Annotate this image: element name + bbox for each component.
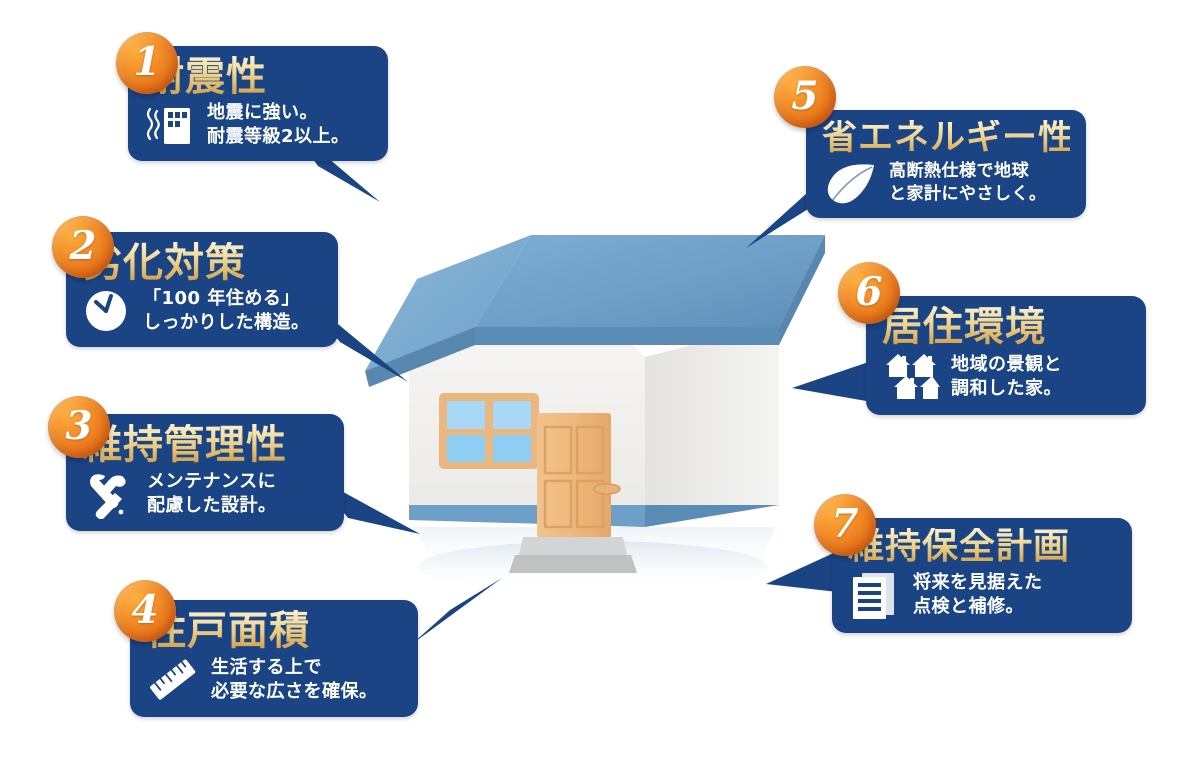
callout-desc-2: 「100 年住める」 しっかりした構造。 xyxy=(143,287,310,335)
callout-desc-2-line2: しっかりした構造。 xyxy=(143,311,310,335)
callout-badge-7: 7 xyxy=(814,494,876,556)
ruler-icon xyxy=(146,655,200,705)
callout-5[interactable]: 省エネルギー性 高断熱仕様で地球 と家計にやさしく。 5 xyxy=(806,110,1086,218)
callout-4[interactable]: 住戸面積 xyxy=(130,600,418,717)
callout-desc-6-line1: 地域の景観と xyxy=(951,353,1062,377)
callout-title-4: 住戸面積 xyxy=(146,610,402,653)
callout-number-4: 4 xyxy=(131,591,158,630)
callout-number-7: 7 xyxy=(831,505,858,544)
callout-number-3: 3 xyxy=(65,407,92,446)
callout-6[interactable]: 居住環境 地域の景観と 調和した家。 xyxy=(866,296,1146,415)
house-door-handle xyxy=(594,484,620,494)
callout-title-1: 耐震性 xyxy=(144,56,372,99)
callout-desc-6: 地域の景観と 調和した家。 xyxy=(951,353,1062,401)
callout-title-2: 劣化対策 xyxy=(82,242,322,285)
house-window-pane xyxy=(447,435,485,462)
callout-badge-4: 4 xyxy=(114,580,176,642)
wrench-hammer-icon xyxy=(82,469,136,519)
clock-icon xyxy=(82,287,132,335)
callout-badge-1: 1 xyxy=(116,32,178,94)
callout-desc-7-line2: 点検と補修。 xyxy=(913,595,1043,619)
house-roof-right xyxy=(475,235,825,327)
callout-badge-2: 2 xyxy=(52,216,114,278)
callout-3[interactable]: 維持管理性 メンテナンスに 配慮した設計。 3 xyxy=(66,414,344,531)
callout-desc-4-line1: 生活する上で xyxy=(211,656,378,680)
callout-bubble-7[interactable]: 維持保全計画 将来を見据えた 点検と補修。 xyxy=(832,518,1132,633)
callout-desc-4: 生活する上で 必要な広さを確保。 xyxy=(211,656,378,704)
callout-title-5: 省エネルギー性 xyxy=(822,120,1070,158)
callout-number-5: 5 xyxy=(791,77,818,116)
house-door xyxy=(537,413,611,538)
infographic-canvas: 耐震性 地震に強い。 xyxy=(0,0,1200,775)
callout-desc-7-line1: 将来を見据えた xyxy=(913,571,1043,595)
callout-badge-3: 3 xyxy=(48,396,110,458)
house-illustration xyxy=(355,175,825,615)
callout-title-6: 居住環境 xyxy=(882,306,1130,349)
callout-desc-3-line2: 配慮した設計。 xyxy=(147,494,277,518)
callout-desc-7: 将来を見据えた 点検と補修。 xyxy=(913,571,1043,619)
house-window-pane xyxy=(493,435,531,462)
callout-badge-6: 6 xyxy=(838,262,900,324)
house-step-upper xyxy=(519,537,627,555)
documents-icon xyxy=(848,569,902,621)
house-window-pane xyxy=(493,401,531,429)
callout-desc-4-line2: 必要な広さを確保。 xyxy=(211,680,378,704)
callout-title-3: 維持管理性 xyxy=(82,424,328,467)
four-houses-icon xyxy=(882,351,940,403)
callout-desc-5-line2: と家計にやさしく。 xyxy=(889,183,1047,206)
callout-desc-1-line2: 耐震等級2以上。 xyxy=(207,125,350,149)
callout-desc-6-line2: 調和した家。 xyxy=(951,377,1062,401)
building-shake-icon xyxy=(144,101,196,149)
house-window-pane xyxy=(447,401,485,429)
callout-desc-3-line1: メンテナンスに xyxy=(147,470,277,494)
callout-7[interactable]: 維持保全計画 将来を見据えた 点検と補修。 xyxy=(832,518,1132,633)
callout-2[interactable]: 劣化対策 「100 年住める」 しっかりした構造。 2 xyxy=(66,232,338,347)
callout-number-6: 6 xyxy=(855,273,882,312)
house-wall-side xyxy=(645,323,779,505)
callout-bubble-5[interactable]: 省エネルギー性 高断熱仕様で地球 と家計にやさしく。 xyxy=(806,110,1086,218)
leaf-icon xyxy=(822,160,878,206)
house-roof-edge xyxy=(467,327,779,345)
callout-desc-1-line1: 地震に強い。 xyxy=(207,101,350,125)
callout-desc-5-line1: 高断熱仕様で地球 xyxy=(889,160,1047,183)
callout-desc-1: 地震に強い。 耐震等級2以上。 xyxy=(207,101,350,149)
callout-1[interactable]: 耐震性 地震に強い。 xyxy=(128,46,388,161)
callout-number-2: 2 xyxy=(69,227,96,266)
callout-title-7: 維持保全計画 xyxy=(848,528,1116,567)
callout-number-1: 1 xyxy=(133,43,160,82)
house-step-lower xyxy=(509,555,637,573)
callout-desc-5: 高断熱仕様で地球 と家計にやさしく。 xyxy=(889,160,1047,206)
callout-desc-2-line1: 「100 年住める」 xyxy=(143,287,310,311)
callout-bubble-6[interactable]: 居住環境 地域の景観と 調和した家。 xyxy=(866,296,1146,415)
callout-badge-5: 5 xyxy=(774,66,836,128)
callout-desc-3: メンテナンスに 配慮した設計。 xyxy=(147,470,277,518)
